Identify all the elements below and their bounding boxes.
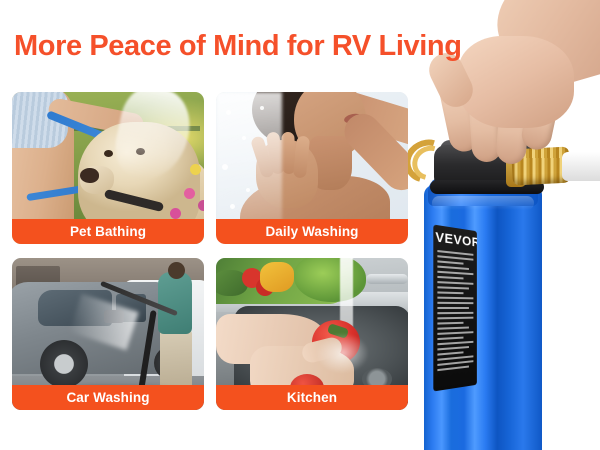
flower — [198, 200, 204, 211]
scenario-tile-kitchen[interactable]: Kitchen — [216, 258, 408, 410]
palm — [458, 36, 574, 128]
brand-logo: VEVOR — [435, 229, 477, 250]
water-droplet — [242, 136, 246, 140]
scenario-tile-daily-washing[interactable]: Daily Washing — [216, 92, 408, 244]
flower — [170, 208, 181, 219]
water-droplet — [222, 164, 228, 170]
product-label: VEVOR — [433, 225, 477, 392]
scenario-tile-pet-bathing[interactable]: Pet Bathing — [12, 92, 204, 244]
water-droplet — [230, 204, 235, 209]
water-splash — [312, 330, 388, 388]
page-title: More Peace of Mind for RV Living — [14, 29, 462, 63]
promo-banner: VEVOR More Peace of Mind for RV Living — [0, 0, 600, 450]
tile-caption: Kitchen — [216, 385, 408, 410]
wheel — [40, 340, 88, 388]
usage-scenario-grid: Pet Bathing — [12, 92, 408, 410]
water-droplet — [226, 110, 231, 115]
flower — [190, 164, 201, 175]
dog-eye — [104, 150, 113, 157]
filter-housing-highlight — [432, 196, 534, 210]
label-fine-print — [437, 250, 473, 374]
tile-caption: Pet Bathing — [12, 219, 204, 244]
flower — [184, 188, 195, 199]
water-droplet — [260, 106, 264, 110]
product-image: VEVOR — [398, 0, 600, 450]
tile-caption: Daily Washing — [216, 219, 408, 244]
dog-nose — [80, 168, 99, 183]
scenario-tile-car-washing[interactable]: Car Washing — [12, 258, 204, 410]
person-torso — [158, 272, 192, 334]
water-droplet — [246, 188, 250, 192]
person-trousers — [160, 328, 192, 390]
faucet — [366, 274, 408, 284]
tile-caption: Car Washing — [12, 385, 204, 410]
bell-pepper — [260, 262, 294, 292]
person-head — [168, 262, 185, 279]
